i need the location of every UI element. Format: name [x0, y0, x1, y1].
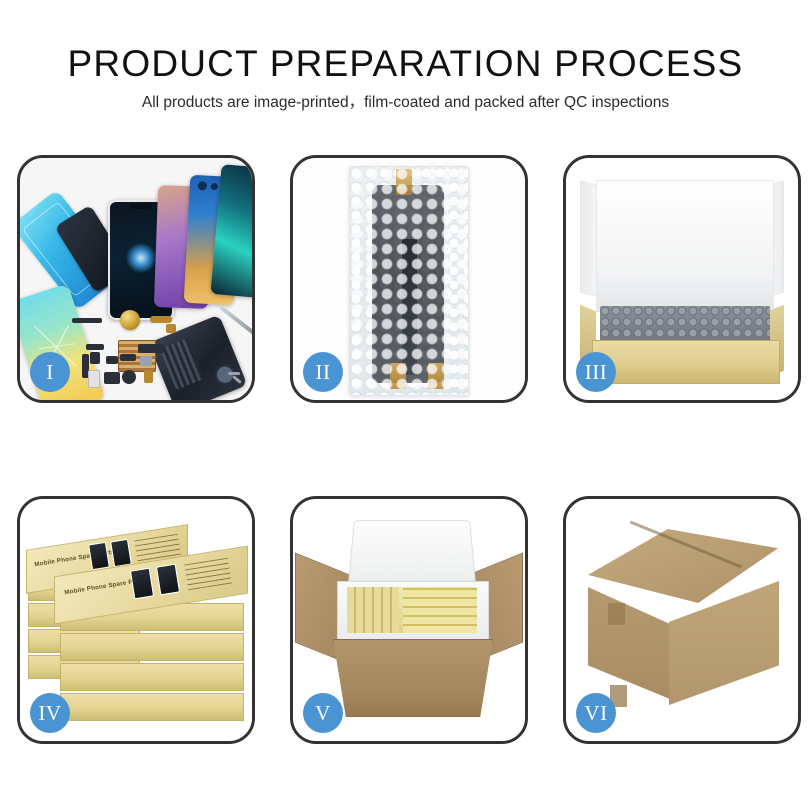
process-step-panel-5[interactable]: V: [290, 496, 528, 744]
process-steps-grid: I II: [17, 155, 800, 744]
screen-flex-cable-icon: [402, 239, 417, 375]
process-step-panel-3[interactable]: III: [563, 155, 801, 403]
page-header: PRODUCT PREPARATION PROCESS All products…: [0, 42, 811, 114]
sim-tray-part-icon: [88, 370, 100, 388]
gold-tab-bottom-left-icon: [390, 363, 406, 389]
gold-connector-part-icon: [166, 324, 176, 333]
process-step-panel-4[interactable]: Mobile Phone Spare Parts Mobile Phone Sp…: [17, 496, 255, 744]
charging-port-part-icon: [104, 372, 120, 384]
gold-chip-part-icon: [144, 370, 153, 383]
camera-module-part-icon: [90, 352, 100, 364]
earpiece-part-icon: [122, 370, 136, 384]
small-flex-part-icon: [86, 344, 104, 350]
gold-tab-bottom-right-icon: [428, 363, 444, 389]
vibration-motor-part-icon: [106, 356, 118, 364]
metal-bracket-part-icon: [140, 356, 152, 366]
box-screen-thumb-front-1: [130, 568, 154, 600]
step-badge-6: VI: [576, 693, 616, 733]
step-badge-3: III: [576, 352, 616, 392]
gold-boxes-inside-foam-icon: [347, 587, 477, 633]
process-step-panel-2[interactable]: II: [290, 155, 528, 403]
gold-box-front-icon: [592, 340, 780, 384]
box-screen-thumb-back-2: [110, 539, 132, 567]
page-subtitle: All products are image-printed，film-coat…: [0, 92, 811, 114]
product-preparation-process-page: PRODUCT PREPARATION PROCESS All products…: [0, 0, 811, 811]
step-badge-4: IV: [30, 693, 70, 733]
bubble-wrap-contents-icon: [600, 306, 770, 342]
stacked-box-fr-2: [60, 633, 244, 661]
box-screen-thumb-back-1: [88, 542, 110, 570]
process-step-panel-6[interactable]: VI: [563, 496, 801, 744]
step-badge-5: V: [303, 693, 343, 733]
speaker-mesh-part-icon: [72, 318, 102, 323]
gold-tab-top-icon: [396, 169, 412, 195]
stacked-box-fr-4: [60, 693, 244, 721]
step-badge-1: I: [30, 352, 70, 392]
carton-tape-upper-icon: [608, 603, 625, 625]
step-badge-2: II: [303, 352, 343, 392]
page-title: PRODUCT PREPARATION PROCESS: [0, 42, 811, 86]
box-screen-thumb-front-2: [156, 564, 180, 596]
stacked-box-fr-3: [60, 663, 244, 691]
process-step-panel-1[interactable]: I: [17, 155, 255, 403]
carton-front-panel-icon: [333, 639, 493, 717]
sensor-flex-part-icon: [120, 354, 136, 361]
bubble-wrap-bag-icon: [349, 166, 469, 396]
gold-coin-part-icon: [120, 310, 140, 330]
flex-cable-part-icon: [150, 316, 172, 323]
foam-cooler-lid-icon: [348, 520, 476, 585]
box-lid-back-icon: [596, 180, 774, 312]
ribbon-cable-part-icon: [138, 344, 164, 353]
